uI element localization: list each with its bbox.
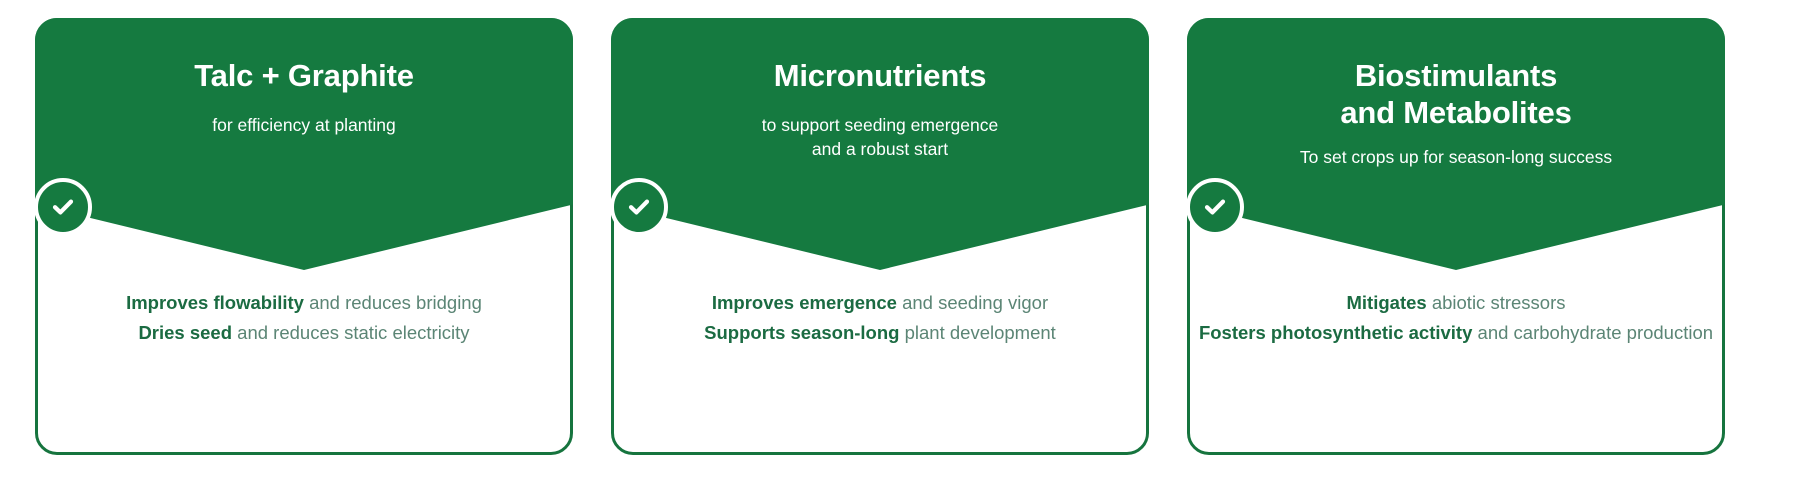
card-title: Micronutrients: [637, 58, 1123, 95]
card-point-rest: plant development: [899, 322, 1055, 343]
card-point-rest: and reduces bridging: [304, 292, 482, 313]
card-point-bold: Improves emergence: [712, 292, 897, 313]
card-subtitle: for efficiency at planting: [61, 113, 547, 137]
benefit-cards-row: Talc + Graphite for efficiency at planti…: [0, 0, 1800, 498]
card-point-bold: Mitigates: [1347, 292, 1427, 313]
check-circle-icon: [34, 178, 92, 236]
card-title: Talc + Graphite: [61, 58, 547, 95]
card-point: Dries seed and reduces static electricit…: [44, 318, 564, 348]
card-point-rest: and carbohydrate production: [1472, 322, 1713, 343]
card-subtitle: to support seeding emergenceand a robust…: [637, 113, 1123, 161]
card-points: Improves flowability and reduces bridgin…: [44, 288, 564, 348]
card-point-bold: Dries seed: [138, 322, 232, 343]
card-point-rest: and seeding vigor: [897, 292, 1048, 313]
card-points: Improves emergence and seeding vigor Sup…: [620, 288, 1140, 348]
card-point: Supports season-long plant development: [620, 318, 1140, 348]
infographic-canvas: Talc + Graphite for efficiency at planti…: [0, 0, 1800, 498]
card-subtitle: To set crops up for season-long success: [1213, 145, 1699, 169]
card-point-bold: Fosters photosynthetic activity: [1199, 322, 1472, 343]
card-points: Mitigates abiotic stressors Fosters phot…: [1196, 288, 1716, 348]
benefit-card-talc-graphite[interactable]: Talc + Graphite for efficiency at planti…: [30, 0, 578, 470]
card-title: Biostimulantsand Metabolites: [1213, 58, 1699, 131]
benefit-card-biostimulants-metabolites[interactable]: Biostimulantsand Metabolites To set crop…: [1182, 0, 1730, 470]
card-point-bold: Improves flowability: [126, 292, 304, 313]
card-point-rest: abiotic stressors: [1427, 292, 1566, 313]
card-point: Mitigates abiotic stressors: [1196, 288, 1716, 318]
card-point-bold: Supports season-long: [704, 322, 899, 343]
card-point: Fosters photosynthetic activity and carb…: [1196, 318, 1716, 348]
card-point-rest: and reduces static electricity: [232, 322, 470, 343]
card-point: Improves flowability and reduces bridgin…: [44, 288, 564, 318]
card-point: Improves emergence and seeding vigor: [620, 288, 1140, 318]
benefit-card-micronutrients[interactable]: Micronutrients to support seeding emerge…: [606, 0, 1154, 470]
check-circle-icon: [610, 178, 668, 236]
check-circle-icon: [1186, 178, 1244, 236]
